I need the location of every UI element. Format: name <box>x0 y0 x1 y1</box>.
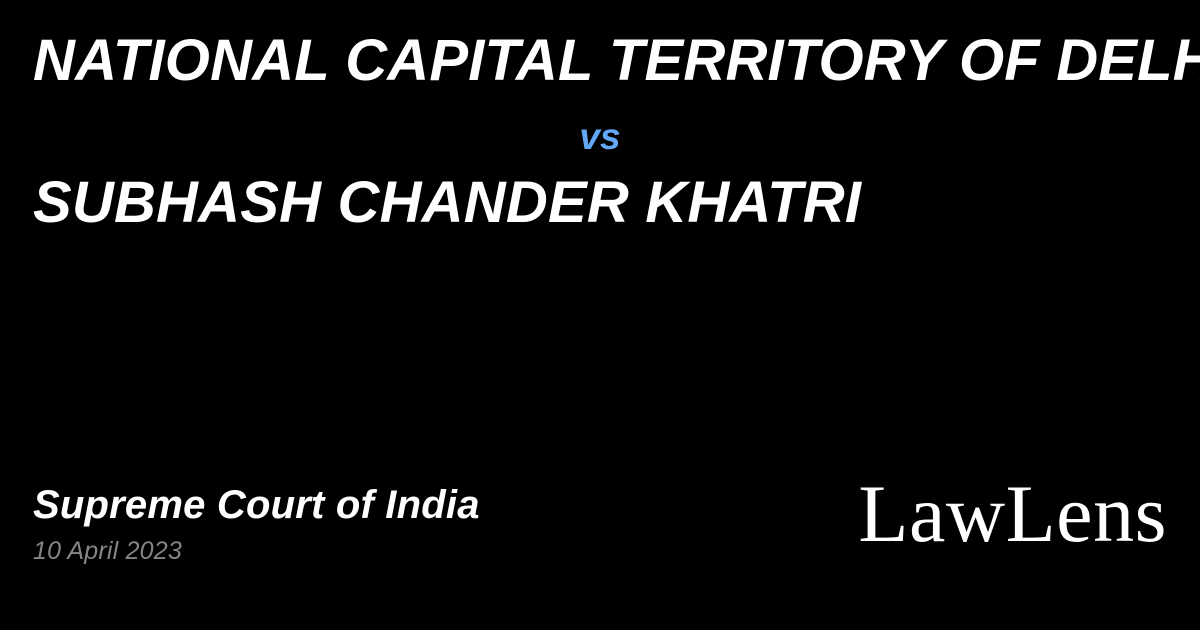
case-summary-card: NATIONAL CAPITAL TERRITORY OF DELHI vs S… <box>0 0 1200 630</box>
petitioner-name: NATIONAL CAPITAL TERRITORY OF DELHI <box>33 30 1200 92</box>
lawlens-logo: LawLens <box>858 470 1167 558</box>
judgment-date: 10 April 2023 <box>33 536 480 566</box>
card-footer: Supreme Court of India 10 April 2023 Law… <box>0 470 1200 630</box>
versus-separator: vs <box>0 115 1200 159</box>
court-name: Supreme Court of India <box>33 482 480 528</box>
respondent-name: SUBHASH CHANDER KHATRI <box>33 172 861 234</box>
court-info-group: Supreme Court of India 10 April 2023 <box>33 482 480 566</box>
